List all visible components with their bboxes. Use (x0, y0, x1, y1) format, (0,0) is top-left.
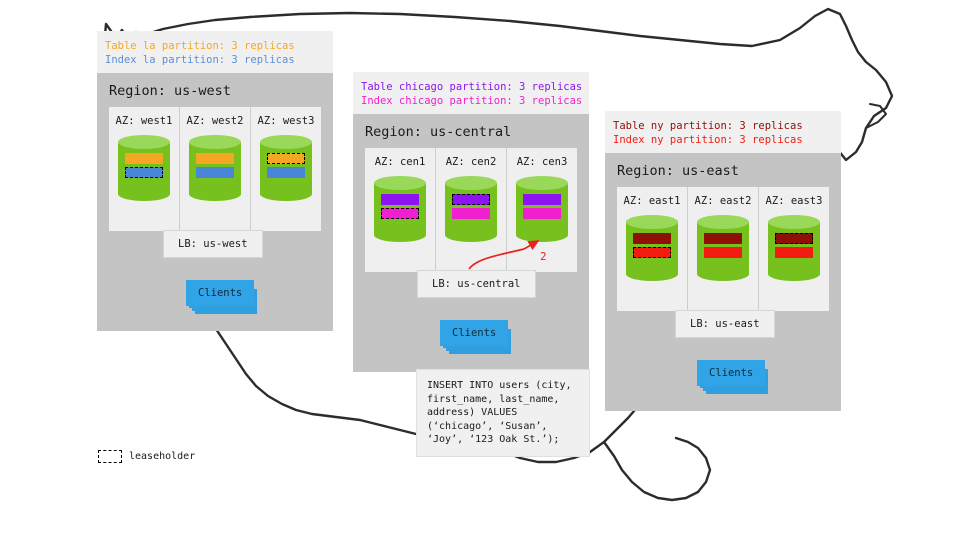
region-header-us-central: Table chicago partition: 3 replicasIndex… (353, 72, 589, 114)
cylinder-top (374, 176, 426, 190)
region-title-us-central: Region: us-central (353, 114, 589, 148)
az-label: AZ: east2 (688, 195, 758, 207)
replica-bars (267, 153, 305, 181)
load-balancer-us-central[interactable]: LB: us-central (417, 270, 536, 298)
az-label: AZ: cen1 (365, 156, 435, 168)
table-replica-bar (196, 153, 234, 164)
az-cell-west2[interactable]: AZ: west2 (179, 107, 250, 231)
cylinder-top (768, 215, 820, 229)
clients-button-label[interactable]: Clients (186, 280, 254, 306)
database-cylinder-icon[interactable] (260, 135, 312, 201)
az-cell-cen2[interactable]: AZ: cen2 (435, 148, 506, 272)
cylinder-top (260, 135, 312, 149)
replica-bars (704, 233, 742, 261)
index-replica-bar-leaseholder (125, 167, 163, 178)
az-label: AZ: west2 (180, 115, 250, 127)
az-label: AZ: west1 (109, 115, 179, 127)
replica-bars (381, 194, 419, 222)
index-replica-bar (775, 247, 813, 258)
cylinder-top (445, 176, 497, 190)
clients-button-label[interactable]: Clients (697, 360, 765, 386)
region-header-us-east: Table ny partition: 3 replicasIndex ny p… (605, 111, 841, 153)
table-replica-bar (125, 153, 163, 164)
database-cylinder-icon[interactable] (697, 215, 749, 281)
index-replica-bar-leaseholder (633, 247, 671, 258)
cylinder-top (697, 215, 749, 229)
legend-label: leaseholder (129, 451, 195, 462)
clients-button-label[interactable]: Clients (440, 320, 508, 346)
index-replica-bar (196, 167, 234, 178)
index-replica-bar (267, 167, 305, 178)
table-partition-line: Table la partition: 3 replicas (105, 39, 325, 53)
az-strip-us-west: AZ: west1AZ: west2AZ: west3 (109, 107, 321, 231)
az-label: AZ: cen3 (507, 156, 577, 168)
database-cylinder-icon[interactable] (626, 215, 678, 281)
table-replica-bar (523, 194, 561, 205)
az-cell-west3[interactable]: AZ: west3 (250, 107, 321, 231)
database-cylinder-icon[interactable] (768, 215, 820, 281)
az-label: AZ: west3 (251, 115, 321, 127)
replica-bars (523, 194, 561, 222)
az-cell-east2[interactable]: AZ: east2 (687, 187, 758, 311)
replica-bars (633, 233, 671, 261)
az-cell-west1[interactable]: AZ: west1 (109, 107, 179, 231)
replica-bars (196, 153, 234, 181)
replica-bars (775, 233, 813, 261)
load-balancer-us-west[interactable]: LB: us-west (163, 230, 263, 258)
az-cell-east3[interactable]: AZ: east3 (758, 187, 829, 311)
dashed-rect-icon (98, 450, 122, 463)
table-replica-bar-leaseholder (452, 194, 490, 205)
database-cylinder-icon[interactable] (374, 176, 426, 242)
index-partition-line: Index la partition: 3 replicas (105, 53, 325, 67)
az-cell-east1[interactable]: AZ: east1 (617, 187, 687, 311)
legend: leaseholder (98, 450, 195, 463)
az-strip-us-east: AZ: east1AZ: east2AZ: east3 (617, 187, 829, 311)
clients-button-us-central[interactable]: Clients (440, 320, 514, 356)
database-cylinder-icon[interactable] (516, 176, 568, 242)
replica-bars (452, 194, 490, 222)
table-replica-bar-leaseholder (775, 233, 813, 244)
index-replica-bar (523, 208, 561, 219)
az-label: AZ: cen2 (436, 156, 506, 168)
az-label: AZ: east3 (759, 195, 829, 207)
cylinder-top (626, 215, 678, 229)
index-replica-bar-leaseholder (381, 208, 419, 219)
region-title-us-east: Region: us-east (605, 153, 841, 187)
cylinder-top (189, 135, 241, 149)
region-title-us-west: Region: us-west (97, 73, 333, 107)
database-cylinder-icon[interactable] (189, 135, 241, 201)
table-replica-bar (633, 233, 671, 244)
region-header-us-west: Table la partition: 3 replicasIndex la p… (97, 31, 333, 73)
index-partition-line: Index ny partition: 3 replicas (613, 133, 833, 147)
az-cell-cen1[interactable]: AZ: cen1 (365, 148, 435, 272)
az-label: AZ: east1 (617, 195, 687, 207)
table-replica-bar (704, 233, 742, 244)
cylinder-top (516, 176, 568, 190)
arrow-label-2: 2 (540, 250, 547, 263)
clients-button-us-east[interactable]: Clients (697, 360, 771, 396)
table-replica-bar (381, 194, 419, 205)
replica-bars (125, 153, 163, 181)
database-cylinder-icon[interactable] (118, 135, 170, 201)
index-partition-line: Index chicago partition: 3 replicas (361, 94, 581, 108)
table-partition-line: Table chicago partition: 3 replicas (361, 80, 581, 94)
table-partition-line: Table ny partition: 3 replicas (613, 119, 833, 133)
index-replica-bar (452, 208, 490, 219)
table-replica-bar-leaseholder (267, 153, 305, 164)
load-balancer-us-east[interactable]: LB: us-east (675, 310, 775, 338)
sql-statement-box: INSERT INTO users (city, first_name, las… (416, 369, 590, 457)
database-cylinder-icon[interactable] (445, 176, 497, 242)
index-replica-bar (704, 247, 742, 258)
clients-button-us-west[interactable]: Clients (186, 280, 260, 316)
cylinder-top (118, 135, 170, 149)
